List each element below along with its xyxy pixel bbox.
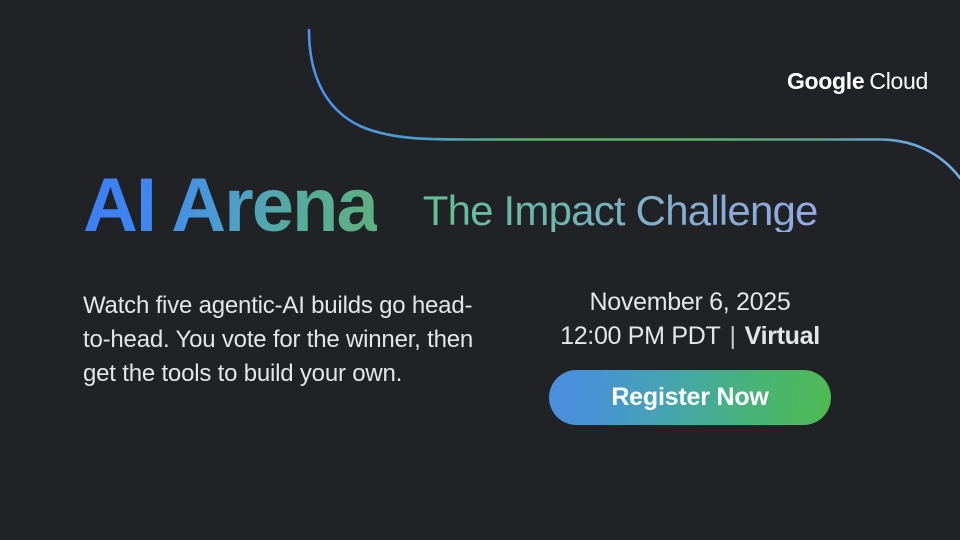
page-subtitle: The Impact Challenge xyxy=(423,190,818,232)
headline-row: AI Arena The Impact Challenge xyxy=(83,168,818,244)
event-promo-banner: GoogleCloud AI Arena The Impact Challeng… xyxy=(0,0,960,540)
brand-name-google: Google xyxy=(787,68,864,94)
event-description: Watch five agentic-AI builds go head-to-… xyxy=(83,289,483,391)
event-date: November 6, 2025 xyxy=(490,286,890,319)
cta-container: Register Now xyxy=(490,370,890,425)
meta-separator: | xyxy=(729,319,735,353)
event-time-mode: 12:00 PM PDT|Virtual xyxy=(490,319,890,353)
event-details: November 6, 2025 12:00 PM PDT|Virtual Re… xyxy=(490,286,890,425)
event-time: 12:00 PM PDT xyxy=(560,322,720,350)
event-mode: Virtual xyxy=(745,322,820,350)
brand-name-cloud: Cloud xyxy=(869,68,928,94)
register-now-button[interactable]: Register Now xyxy=(549,370,831,425)
page-title: AI Arena xyxy=(83,168,377,244)
google-cloud-logo: GoogleCloud xyxy=(787,68,928,95)
